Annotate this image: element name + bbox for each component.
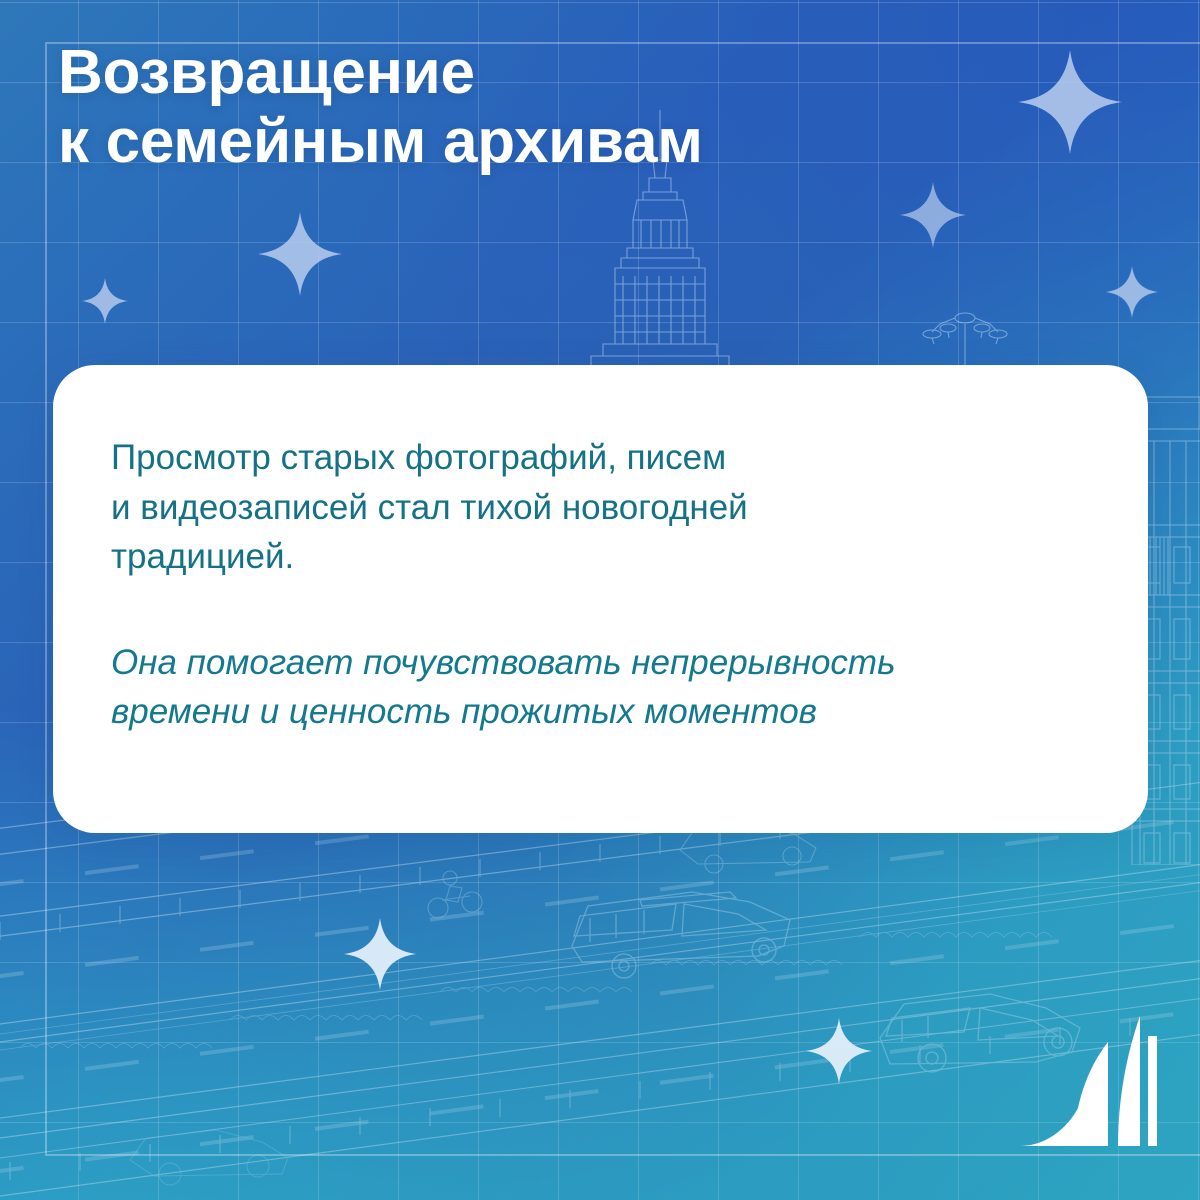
star-top-left-small [82, 278, 128, 324]
page-title: Возвращение к семейным архивам [58, 38, 1058, 177]
star-right-mid [1106, 266, 1158, 318]
star-bottom-left [344, 918, 416, 990]
content-card: Просмотр старых фотографий, писем и виде… [53, 365, 1148, 833]
star-bottom-mid [806, 1018, 872, 1084]
card-paragraph: Просмотр старых фотографий, писем и виде… [111, 433, 1102, 582]
content-card-inner: Просмотр старых фотографий, писем и виде… [111, 433, 1102, 736]
star-right-upper [900, 182, 966, 248]
poster-canvas: Возвращение к семейным архивам Просмотр … [0, 0, 1200, 1200]
card-emphasis: Она помогает почувствовать непрерывность… [111, 638, 1102, 736]
star-top-left-large [258, 212, 342, 296]
moscow-transport-sails-logo [1012, 1008, 1162, 1158]
